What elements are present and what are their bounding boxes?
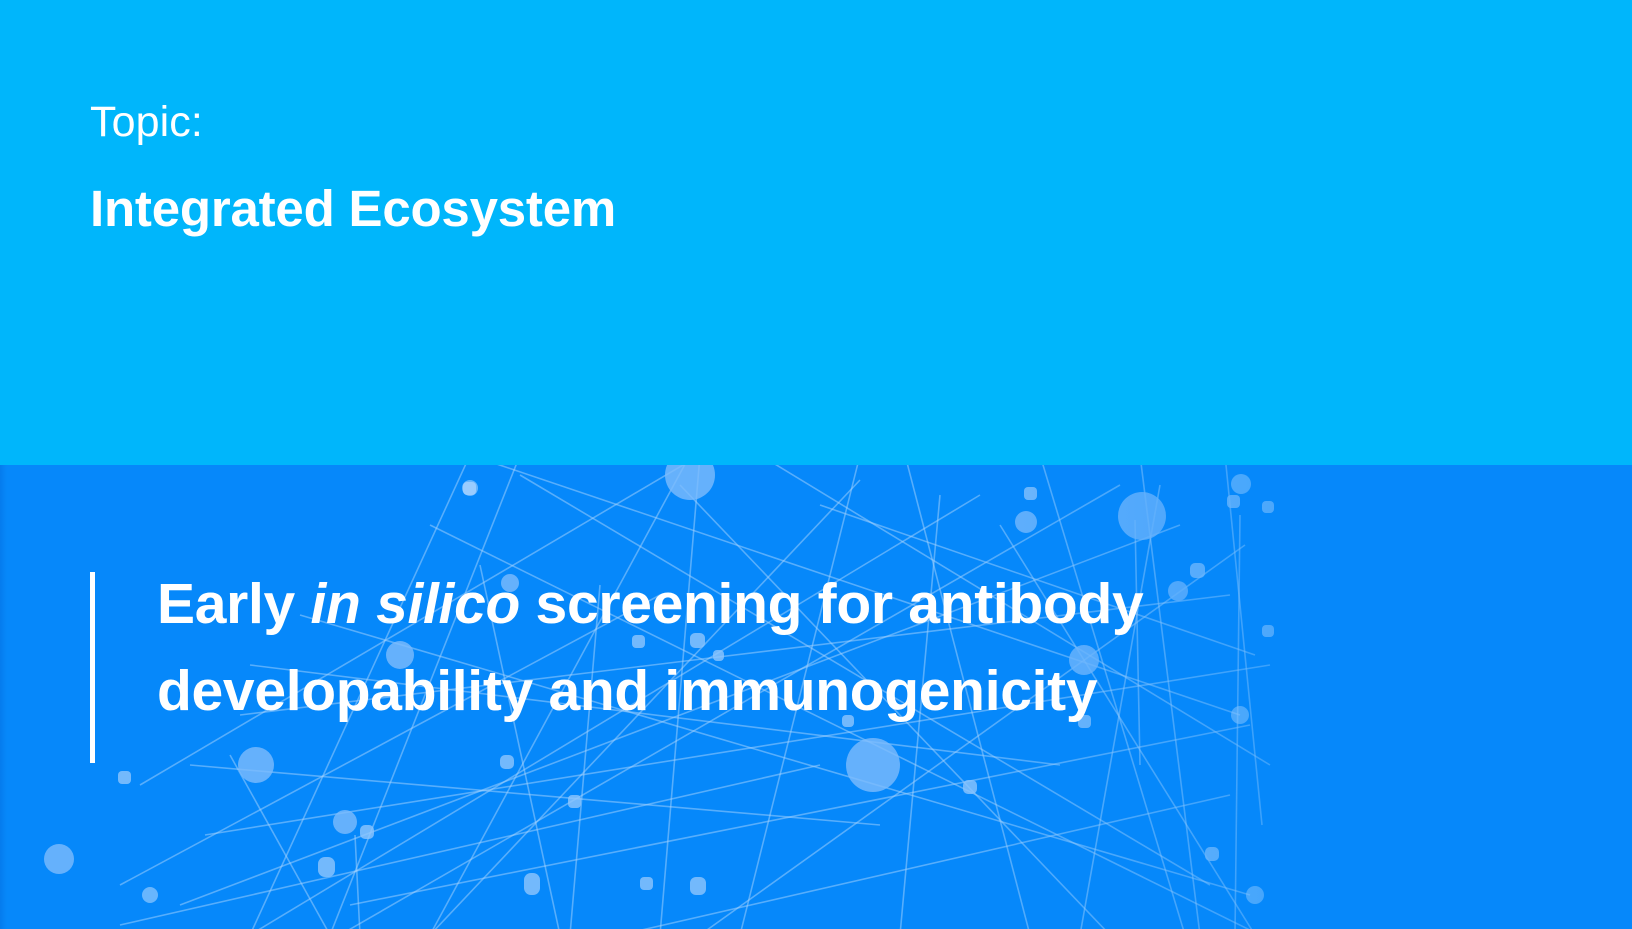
topic-panel: Topic: Integrated Ecosystem [0,0,1632,465]
headline-part-developability: developability and immunogenicity [157,659,1097,723]
headline: Early in silico screening for antibody d… [157,561,1457,735]
headline-part-screening: screening for antibody [520,572,1143,636]
left-edge-shade [0,465,7,929]
headline-part-early: Early [157,572,310,636]
headline-panel: Early in silico screening for antibody d… [0,465,1632,929]
accent-bar [90,572,95,763]
headline-part-in-silico: in silico [310,572,520,636]
slide-root: Topic: Integrated Ecosystem [0,0,1632,929]
topic-label: Topic: [90,98,203,147]
headline-line-1: Early in silico screening for antibody [157,561,1457,648]
topic-title: Integrated Ecosystem [90,180,616,239]
headline-line-2: developability and immunogenicity [157,648,1457,735]
